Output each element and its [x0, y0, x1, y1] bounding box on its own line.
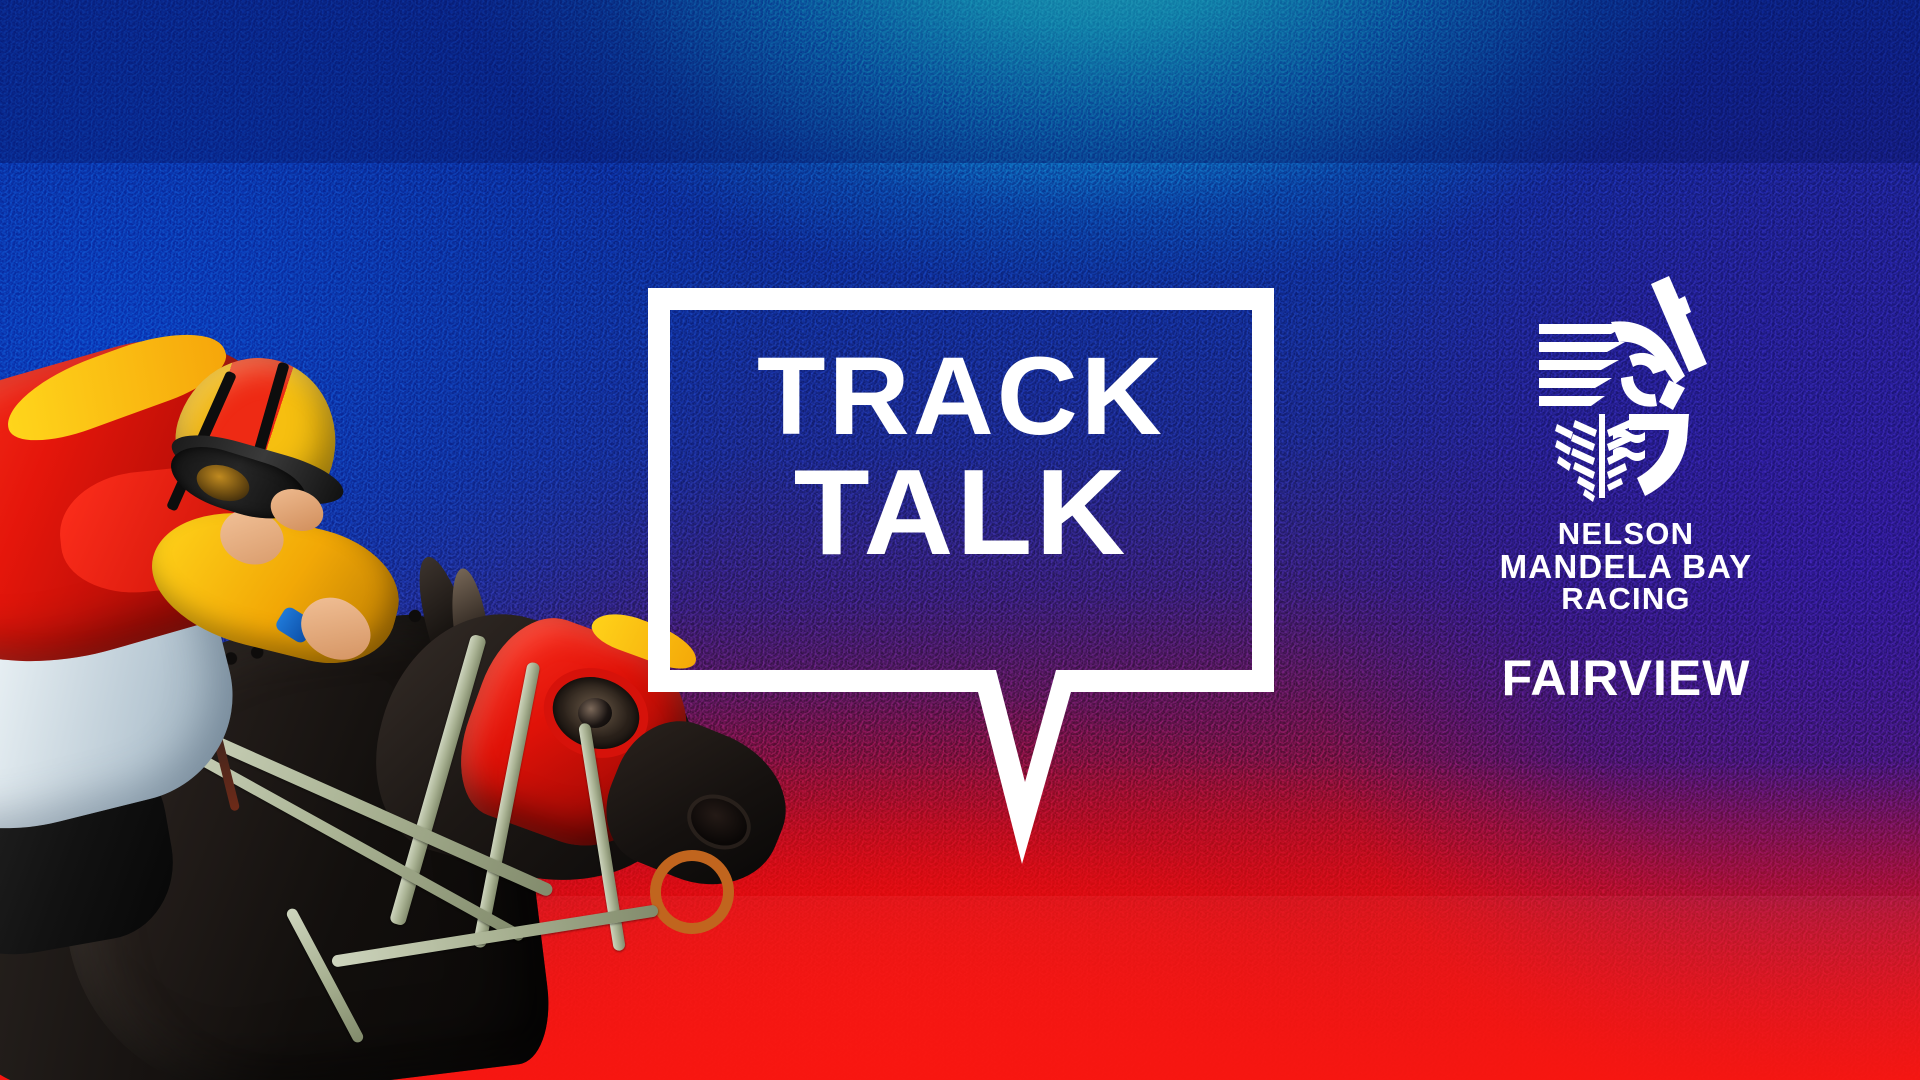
track-talk-logo: TRACK TALK — [648, 288, 1274, 692]
nmb-racing-lockup: NELSON MANDELA BAY RACING FAIRVIEW — [1476, 272, 1776, 707]
speech-bubble-icon — [648, 288, 1274, 692]
brand-name: NELSON MANDELA BAY RACING — [1476, 518, 1776, 615]
brand-line-2: MANDELA BAY — [1476, 550, 1776, 584]
banner-canvas: TRACK TALK — [0, 0, 1920, 1080]
venue-name: FAIRVIEW — [1476, 649, 1776, 707]
horse-head-crest-icon — [1533, 272, 1719, 502]
brand-line-3: RACING — [1476, 583, 1776, 615]
brand-line-1: NELSON — [1476, 518, 1776, 550]
